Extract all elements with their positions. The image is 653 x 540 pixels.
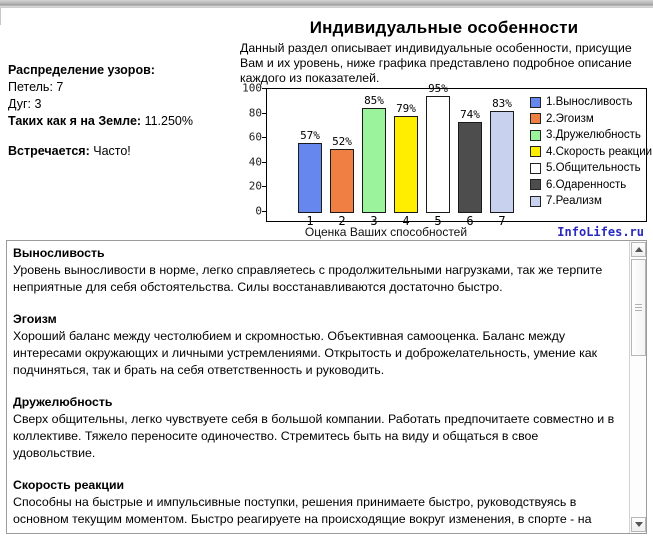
chart-bar-slot: 83% [486,90,518,213]
chart-bar-slot: 57% [294,90,326,213]
descriptions-scroll-content: Выносливость Уровень выносливости в норм… [7,241,629,533]
chart-bar-slot: 74% [454,90,486,213]
chart-legend-label: 3.Дружелюбность [546,129,641,141]
scroll-up-button[interactable] [631,242,646,257]
description-title: Скорость реакции [13,477,623,493]
page-title: Индивидуальные особенности [240,18,648,38]
chart-x-axis-title: Оценка Ваших способностей [266,225,506,239]
chart-bar [298,143,322,213]
legend-color-swatch-icon [530,179,541,190]
chart-bar-value-label: 83% [486,97,518,110]
chart-legend-item: 3.Дружелюбность [530,127,653,144]
chart-bar [362,108,386,213]
chart-legend-label: 4.Скорость реакции [546,146,652,158]
chart-legend-item: 2.Эгоизм [530,111,653,128]
chart-plot-area: 57%52%85%79%95%74%83% [294,90,518,213]
frequency-value: Часто! [93,144,131,158]
description-title: Эгоизм [13,311,623,327]
chart-plot-frame: 57%52%85%79%95%74%83% 1234567 1.Вынослив… [266,88,647,222]
window-left-edge [0,7,1,25]
pattern-row-loops-value: 7 [56,80,63,94]
chart-bar-value-label: 57% [294,129,326,142]
chart-legend-label: 2.Эгоизм [546,113,594,125]
chart-bar-value-label: 95% [422,82,454,95]
chart-bar-slot: 52% [326,90,358,213]
descriptions-panel[interactable]: Выносливость Уровень выносливости в норм… [6,240,647,534]
info-spacer [8,130,233,143]
description-section: Дружелюбность Сверх общительны, легко чу… [13,394,623,462]
pattern-row-earth-share: Таких как я на Земле: 11.250% [8,113,233,130]
descriptions-scrollbar[interactable] [629,241,646,533]
chart-bar-value-label: 79% [390,102,422,115]
description-body: Сверх общительны, легко чувствуете себя … [13,411,623,462]
chart-legend: 1.Выносливость2.Эгоизм3.Дружелюбность4.С… [530,94,653,210]
legend-color-swatch-icon [530,130,541,141]
chart-y-tick-label: 20 [249,180,262,193]
chart-bar [394,116,418,213]
chart-legend-item: 7.Реализм [530,193,653,210]
legend-color-swatch-icon [530,146,541,157]
legend-color-swatch-icon [530,196,541,207]
chart-bar-slot: 85% [358,90,390,213]
description-section: Эгоизм Хороший баланс между честолюбием … [13,311,623,379]
chart-bar-slot: 95% [422,90,454,213]
chart-y-tick-label: 60 [249,131,262,144]
pattern-row-arcs-value: 3 [35,97,42,111]
description-section: Скорость реакции Способны на быстрые и и… [13,477,623,533]
description-body: Уровень выносливости в норме, легко спра… [13,262,623,296]
chart-y-tick-label: 80 [249,106,262,119]
frequency-label: Встречается: [8,144,90,158]
pattern-row-arcs-label: Дуг: [8,97,31,111]
pattern-distribution-block: Распределение узоров: Петель: 7 Дуг: 3 Т… [8,62,233,160]
description-title: Выносливость [13,245,623,261]
description-body: Способны на быстрые и импульсивные посту… [13,494,623,533]
pattern-row-earth-share-label: Таких как я на Земле: [8,114,141,128]
description-title: Дружелюбность [13,394,623,410]
chart-bar [490,111,514,213]
chart-y-tick-label: 0 [255,205,262,218]
window-top-bar [0,0,653,8]
legend-color-swatch-icon [530,113,541,124]
pattern-distribution-heading: Распределение узоров: [8,62,233,79]
pattern-row-earth-share-value: 11.250% [145,114,193,128]
chart-legend-item: 4.Скорость реакции [530,144,653,161]
scrollbar-grip-icon [635,302,642,313]
triangle-up-icon [635,247,643,252]
legend-color-swatch-icon [530,97,541,108]
site-watermark: InfoLifes.ru [557,225,644,239]
chart-bar-slot: 79% [390,90,422,213]
chart-bar [330,149,354,213]
abilities-bar-chart: 020406080100 57%52%85%79%95%74%83% 12345… [240,88,648,236]
chart-legend-item: 1.Выносливость [530,94,653,111]
chart-y-tick-label: 40 [249,155,262,168]
scroll-down-button[interactable] [631,517,646,532]
scrollbar-thumb[interactable] [631,259,646,356]
chart-legend-item: 5.Общительность [530,160,653,177]
chart-legend-label: 6.Одаренность [546,179,626,191]
chart-bar-value-label: 74% [454,108,486,121]
chart-legend-label: 5.Общительность [546,162,641,174]
chart-bar-value-label: 52% [326,135,358,148]
chart-bar-value-label: 85% [358,94,390,107]
intro-paragraph: Данный раздел описывает индивидуальные о… [240,41,648,87]
legend-color-swatch-icon [530,163,541,174]
chart-y-tick-label: 100 [242,82,262,95]
chart-bar [458,122,482,213]
description-section: Выносливость Уровень выносливости в норм… [13,245,623,296]
pattern-row-loops-label: Петель: [8,80,53,94]
chart-y-axis: 020406080100 [240,88,266,212]
chart-legend-label: 7.Реализм [546,195,602,207]
pattern-row-arcs: Дуг: 3 [8,96,233,113]
chart-legend-label: 1.Выносливость [546,96,633,108]
description-body: Хороший баланс между честолюбием и скром… [13,328,623,379]
triangle-down-icon [635,522,643,527]
frequency-row: Встречается: Часто! [8,143,233,160]
chart-bar [426,96,450,213]
pattern-row-loops: Петель: 7 [8,79,233,96]
chart-legend-item: 6.Одаренность [530,177,653,194]
